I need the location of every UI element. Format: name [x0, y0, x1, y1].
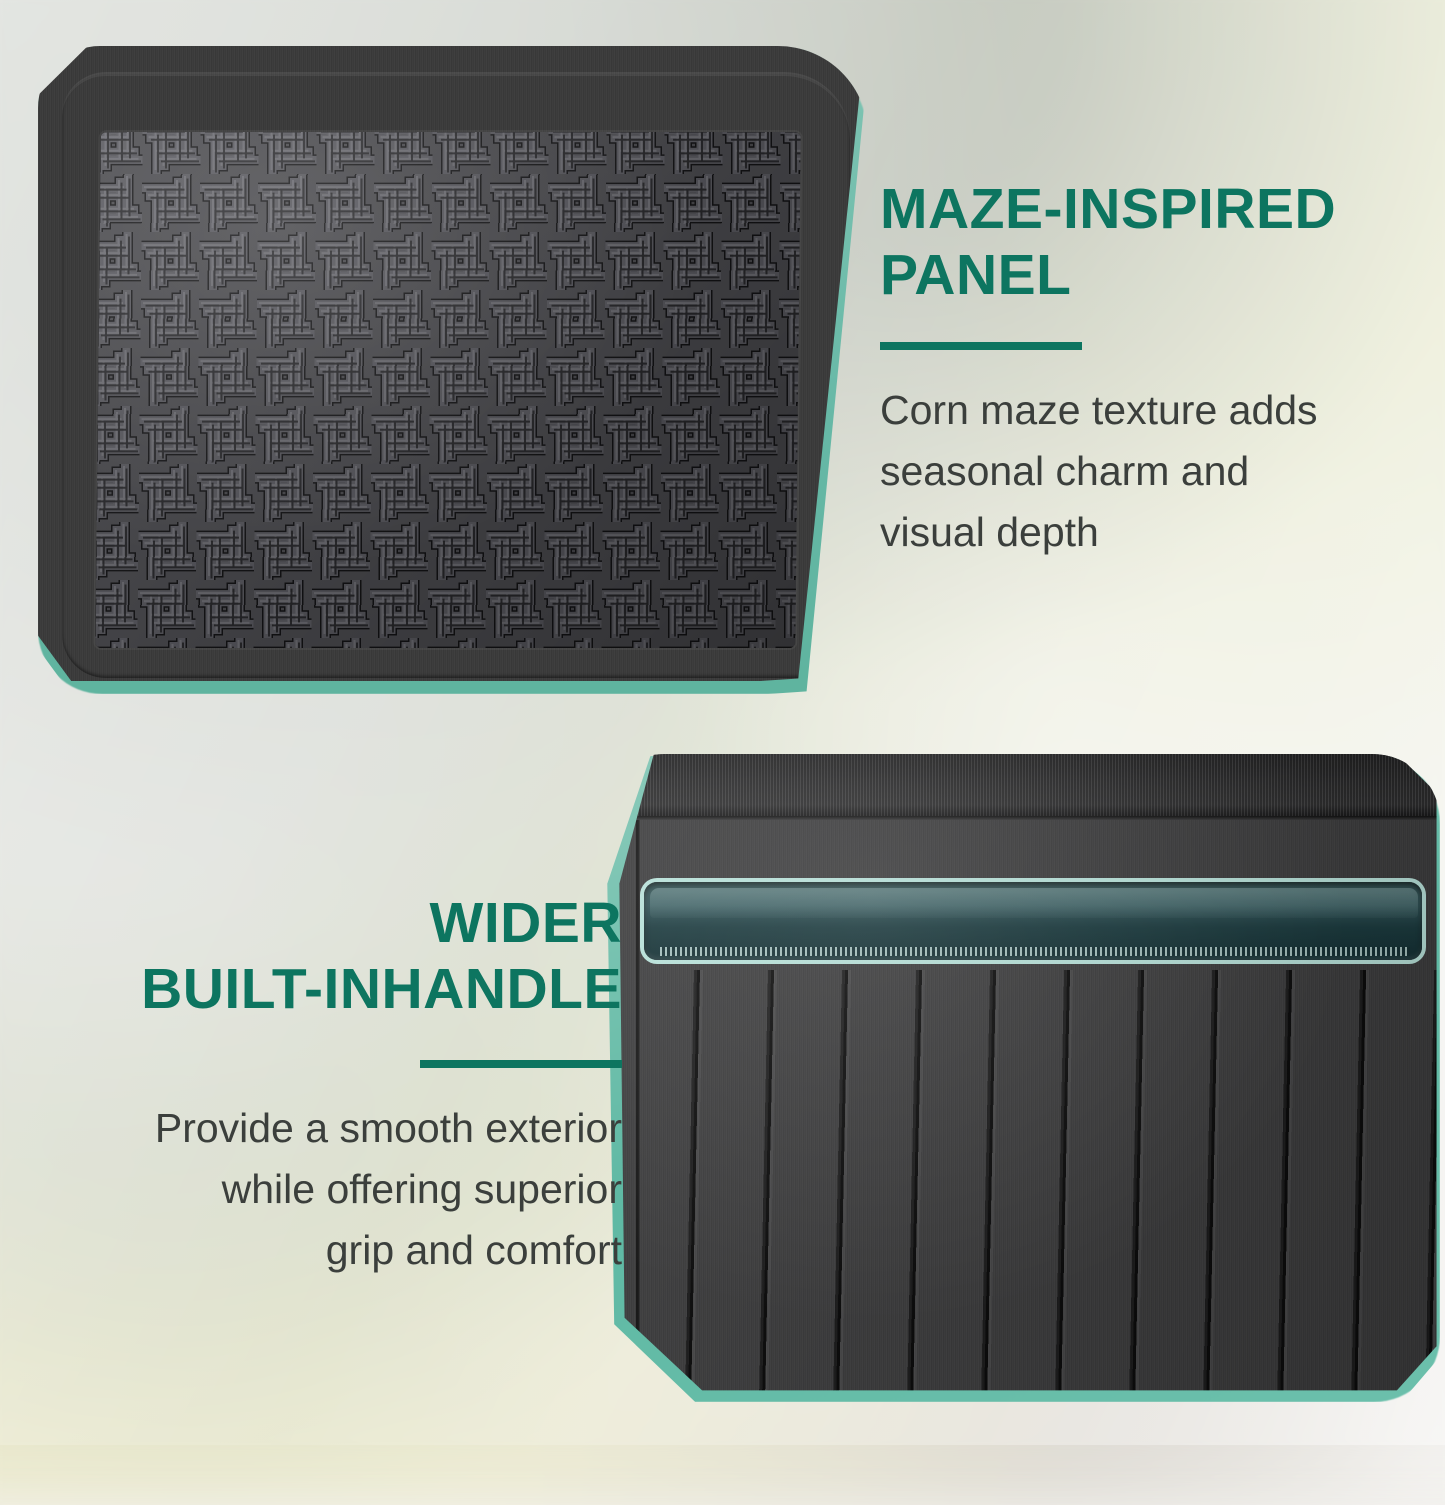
callout-body-2: Provide a smooth exteriorwhile offering …	[22, 1098, 622, 1280]
callout-body-line-3: visual depth	[880, 509, 1099, 555]
callout-heading-line-2: PANEL	[880, 243, 1071, 307]
callout-heading-2-line-1: WIDER	[430, 891, 622, 955]
callout-divider-rule	[880, 342, 1082, 350]
maze-texture-field	[95, 132, 800, 648]
lip-brush-texture	[578, 754, 1440, 816]
callout-body: Corn maze texture addsseasonal charm and…	[880, 380, 1396, 562]
built-in-handle-slot	[644, 882, 1422, 960]
lid-seam-line	[578, 816, 1440, 820]
callout-heading-line-1: MAZE-INSPIRED	[880, 177, 1336, 241]
handle-grip-ridges	[660, 947, 1410, 956]
maze-pattern-tile	[95, 132, 800, 648]
maze-panel-photo	[38, 46, 868, 694]
callout-heading: MAZE-INSPIREDPANEL	[880, 176, 1396, 308]
handle-panel-body	[578, 754, 1440, 1402]
handle-panel-photo	[578, 754, 1440, 1402]
callout-body-2-line-1: Provide a smooth exterior	[155, 1105, 622, 1151]
handle-gloss-highlight	[650, 888, 1418, 918]
callout-body-line-1: Corn maze texture adds	[880, 387, 1318, 433]
callout-body-2-line-2: while offering superior	[222, 1166, 622, 1212]
callout-heading-2: WIDERBUILT-INHANDLE	[22, 890, 622, 1022]
callout-divider-rule-2	[420, 1060, 622, 1068]
callout-heading-2-line-2: BUILT-INHANDLE	[141, 957, 622, 1021]
callout-body-2-line-3: grip and comfort	[326, 1227, 622, 1273]
callout-body-line-2: seasonal charm and	[880, 448, 1249, 494]
vertical-rib-field	[634, 970, 1440, 1402]
lid-top-lip	[578, 754, 1440, 816]
maze-panel-body	[38, 46, 868, 694]
callout-maze-inspired-panel: MAZE-INSPIREDPANEL Corn maze texture add…	[880, 176, 1396, 562]
maze-field-clip	[38, 46, 868, 694]
callout-wider-built-in-handle: WIDERBUILT-INHANDLE Provide a smooth ext…	[22, 890, 622, 1280]
